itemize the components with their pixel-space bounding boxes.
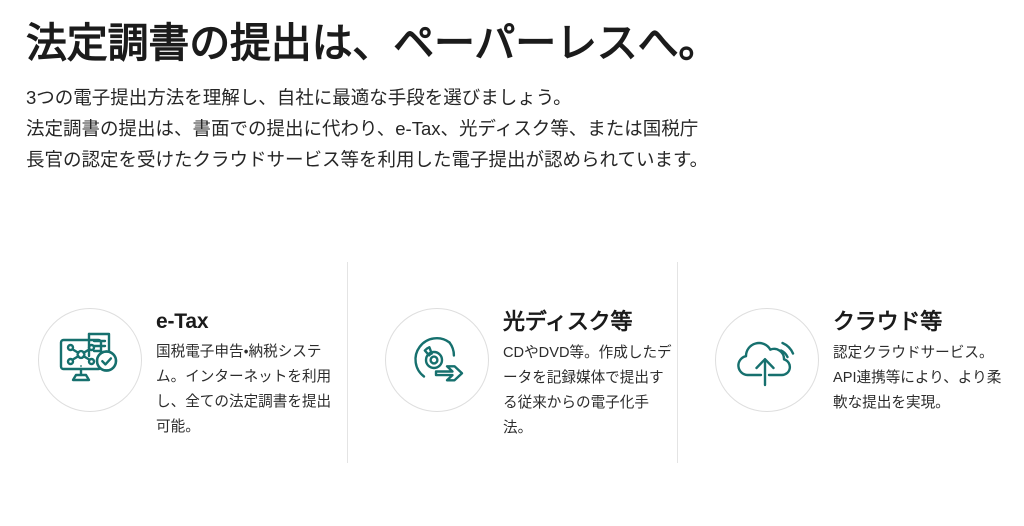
hero-description-line: 法定調書の提出は、書面での提出に代わり、e-Tax、光ディスク等、または国税庁 xyxy=(26,113,986,144)
cloud-upload-signal-icon xyxy=(735,331,799,389)
card-text-block: クラウド等 認定クラウドサービス。API連携等により、より柔軟な提出を実現。 xyxy=(833,308,1015,416)
card-title: 光ディスク等 xyxy=(503,310,677,334)
optical-disc-arrow-icon xyxy=(406,330,468,390)
method-card-optical-disc[interactable]: 光ディスク等 CDやDVD等。作成したデータを記録媒体で提出する従来からの電子化… xyxy=(347,262,677,463)
icon-badge xyxy=(385,308,489,412)
hero-section: 法定調書の提出は、ペーパーレスへ。 3つの電子提出方法を理解し、自社に最適な手段… xyxy=(26,18,986,175)
icon-badge xyxy=(38,308,142,412)
hero-description-line: 長官の認定を受けたクラウドサービス等を利用した電子提出が認められています。 xyxy=(26,144,986,175)
page-title: 法定調書の提出は、ペーパーレスへ。 xyxy=(26,18,986,68)
card-description: 認定クラウドサービス。API連携等により、より柔軟な提出を実現。 xyxy=(833,341,1015,416)
card-description: 国税電子申告・納税システム。インターネットを利用し、全ての法定調書を提出可能。 xyxy=(156,340,338,440)
card-text-block: e-Tax 国税電子申告・納税システム。インターネットを利用し、全ての法定調書を… xyxy=(156,308,338,440)
card-text-block: 光ディスク等 CDやDVD等。作成したデータを記録媒体で提出する従来からの電子化… xyxy=(503,308,677,441)
monitor-network-document-check-icon xyxy=(58,330,122,390)
card-title: e-Tax xyxy=(156,310,338,333)
icon-badge xyxy=(715,308,819,412)
hero-description-line: 3つの電子提出方法を理解し、自社に最適な手段を選びましょう。 xyxy=(26,82,986,113)
hero-description: 3つの電子提出方法を理解し、自社に最適な手段を選びましょう。 法定調書の提出は、… xyxy=(26,82,986,175)
card-title: クラウド等 xyxy=(833,310,1015,334)
method-card-cloud[interactable]: クラウド等 認定クラウドサービス。API連携等により、より柔軟な提出を実現。 xyxy=(677,262,1024,463)
method-card-etax[interactable]: e-Tax 国税電子申告・納税システム。インターネットを利用し、全ての法定調書を… xyxy=(0,262,347,463)
method-cards-row: e-Tax 国税電子申告・納税システム。インターネットを利用し、全ての法定調書を… xyxy=(0,262,1024,463)
card-description: CDやDVD等。作成したデータを記録媒体で提出する従来からの電子化手法。 xyxy=(503,341,677,441)
